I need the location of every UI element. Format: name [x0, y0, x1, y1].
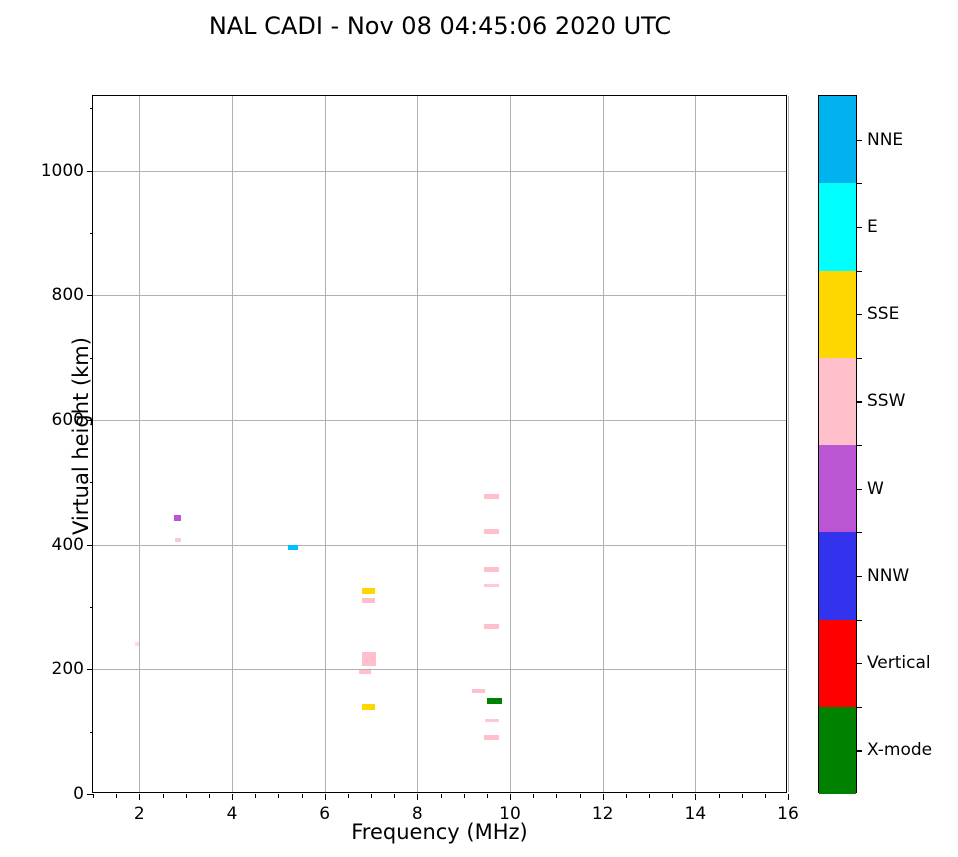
gridline-horizontal — [93, 545, 786, 546]
data-point — [362, 598, 375, 603]
x-tick — [139, 794, 140, 800]
x-tick-minor — [116, 794, 117, 798]
colorbar-tick — [856, 576, 862, 577]
data-point — [174, 515, 181, 521]
colorbar-label-x-mode: X-mode — [867, 740, 932, 760]
x-tick-minor — [394, 794, 395, 798]
data-point — [362, 704, 375, 710]
colorbar-boundary-tick — [856, 445, 862, 446]
data-point — [359, 670, 371, 674]
data-point — [175, 538, 181, 542]
x-tick-minor — [441, 794, 442, 798]
colorbar-label-w: W — [867, 479, 884, 499]
x-tick-minor — [672, 794, 673, 798]
data-point — [487, 698, 502, 704]
plot-area: 246810121416 02004006008001000 — [92, 95, 787, 793]
x-tick — [417, 794, 418, 800]
colorbar-segment-vertical[interactable] — [819, 620, 856, 707]
x-tick-minor — [464, 794, 465, 798]
data-point — [472, 689, 485, 693]
gridline-horizontal — [93, 171, 786, 172]
data-point — [135, 642, 140, 646]
data-point — [484, 584, 499, 587]
x-tick-minor — [742, 794, 743, 798]
y-tick-label: 0 — [73, 784, 84, 804]
colorbar-label-vertical: Vertical — [867, 653, 931, 673]
data-point — [288, 545, 298, 550]
colorbar-tick — [856, 750, 862, 751]
colorbar-tick — [856, 314, 862, 315]
colorbar-segment-nne[interactable] — [819, 96, 856, 183]
colorbar-tick — [856, 489, 862, 490]
data-point — [485, 719, 499, 722]
colorbar-label-nnw: NNW — [867, 566, 909, 586]
x-tick-minor — [302, 794, 303, 798]
colorbar-label-sse: SSE — [867, 304, 899, 324]
x-tick — [603, 794, 604, 800]
colorbar-label-ssw: SSW — [867, 391, 905, 411]
x-tick — [325, 794, 326, 800]
colorbar-segment-w[interactable] — [819, 445, 856, 532]
data-point — [362, 588, 375, 594]
colorbar-boundary-tick — [856, 358, 862, 359]
x-tick-minor — [278, 794, 279, 798]
y-axis-label: Virtual height (km) — [69, 87, 93, 785]
x-tick — [788, 794, 789, 800]
data-point — [484, 494, 499, 499]
colorbar-boundary-tick — [856, 183, 862, 184]
x-axis-label: Frequency (MHz) — [92, 820, 787, 844]
colorbar-boundary-tick — [856, 620, 862, 621]
colorbar-tick — [856, 401, 862, 402]
gridline-horizontal — [93, 295, 786, 296]
data-point — [484, 624, 499, 629]
gridline-vertical — [510, 96, 511, 792]
x-tick-minor — [186, 794, 187, 798]
y-tick — [87, 794, 93, 795]
x-tick — [232, 794, 233, 800]
data-point — [484, 735, 499, 740]
x-tick-minor — [626, 794, 627, 798]
page-title: NAL CADI - Nov 08 04:45:06 2020 UTC — [0, 12, 880, 40]
azimuth-colorbar[interactable]: NNEESSESSWWNNWVerticalX-mode — [818, 95, 857, 793]
gridline-vertical — [417, 96, 418, 792]
colorbar-segment-x-mode[interactable] — [819, 707, 856, 794]
x-tick — [510, 794, 511, 800]
x-tick-minor — [348, 794, 349, 798]
x-tick-minor — [719, 794, 720, 798]
colorbar-segment-e[interactable] — [819, 183, 856, 270]
x-tick-minor — [580, 794, 581, 798]
gridline-vertical — [695, 96, 696, 792]
gridline-vertical — [139, 96, 140, 792]
colorbar-label-e: E — [867, 217, 878, 237]
x-tick-minor — [487, 794, 488, 798]
x-tick-minor — [556, 794, 557, 798]
x-tick-minor — [163, 794, 164, 798]
data-point — [484, 529, 499, 534]
colorbar-segment-nnw[interactable] — [819, 532, 856, 619]
colorbar-segment-sse[interactable] — [819, 271, 856, 358]
colorbar-boundary-tick — [856, 707, 862, 708]
colorbar-boundary-tick — [856, 532, 862, 533]
x-tick-minor — [765, 794, 766, 798]
x-tick-minor — [93, 794, 94, 798]
gridline-vertical — [325, 96, 326, 792]
x-tick-minor — [371, 794, 372, 798]
gridline-vertical — [788, 96, 789, 792]
x-tick-minor — [533, 794, 534, 798]
gridline-vertical — [232, 96, 233, 792]
colorbar-tick — [856, 663, 862, 664]
ionogram-figure: NAL CADI - Nov 08 04:45:06 2020 UTC 2468… — [0, 0, 958, 857]
colorbar-tick — [856, 140, 862, 141]
colorbar-segment-ssw[interactable] — [819, 358, 856, 445]
x-tick-minor — [255, 794, 256, 798]
gridline-horizontal — [93, 420, 786, 421]
x-tick-minor — [649, 794, 650, 798]
data-point — [362, 652, 376, 666]
x-tick — [695, 794, 696, 800]
x-tick-minor — [209, 794, 210, 798]
colorbar-tick — [856, 227, 862, 228]
colorbar-boundary-tick — [856, 271, 862, 272]
gridline-vertical — [603, 96, 604, 792]
data-point — [484, 567, 499, 572]
gridline-horizontal — [93, 669, 786, 670]
colorbar-label-nne: NNE — [867, 130, 903, 150]
